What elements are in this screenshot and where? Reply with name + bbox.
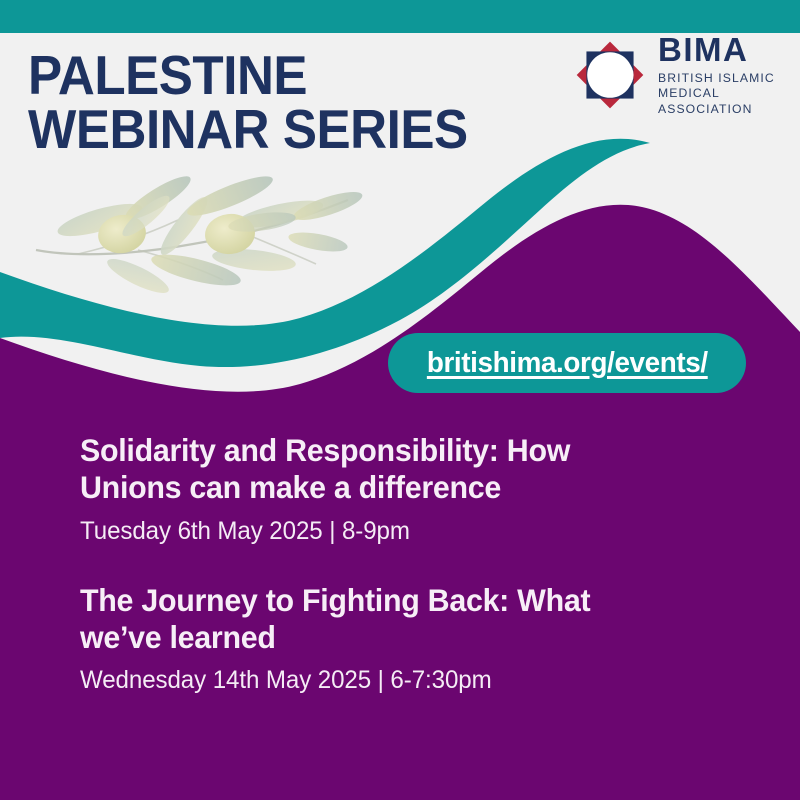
events-url-label[interactable]: britishima.org/events/ <box>427 347 708 380</box>
event-datetime: Wednesday 14th May 2025 | 6-7:30pm <box>80 666 717 695</box>
event-title: Solidarity and Responsibility: How Union… <box>80 432 717 506</box>
page-title: PALESTINE WEBINAR SERIES <box>28 48 512 157</box>
event-datetime: Tuesday 6th May 2025 | 8-9pm <box>80 517 717 546</box>
event-item: Solidarity and Responsibility: How Union… <box>80 432 740 546</box>
event-list: Solidarity and Responsibility: How Union… <box>80 432 740 717</box>
bima-star-crescent-icon <box>572 37 648 113</box>
top-teal-strip <box>0 0 800 33</box>
events-url-pill[interactable]: britishima.org/events/ <box>388 333 746 393</box>
event-item: The Journey to Fighting Back: What we’ve… <box>80 582 740 696</box>
logo-subtitle-line1: BRITISH ISLAMIC <box>658 71 792 87</box>
logo-subtitle-line2: MEDICAL ASSOCIATION <box>658 86 792 117</box>
event-title: The Journey to Fighting Back: What we’ve… <box>80 582 717 656</box>
palestine-webinar-series-poster: PALESTINE WEBINAR SERIES BIMA BRITISH IS… <box>0 0 800 800</box>
logo-wordmark: BIMA BRITISH ISLAMIC MEDICAL ASSOCIATION <box>658 33 792 118</box>
olive-branch-icon <box>18 172 368 302</box>
logo-title: BIMA <box>658 33 792 66</box>
bima-logo: BIMA BRITISH ISLAMIC MEDICAL ASSOCIATION <box>572 36 792 114</box>
